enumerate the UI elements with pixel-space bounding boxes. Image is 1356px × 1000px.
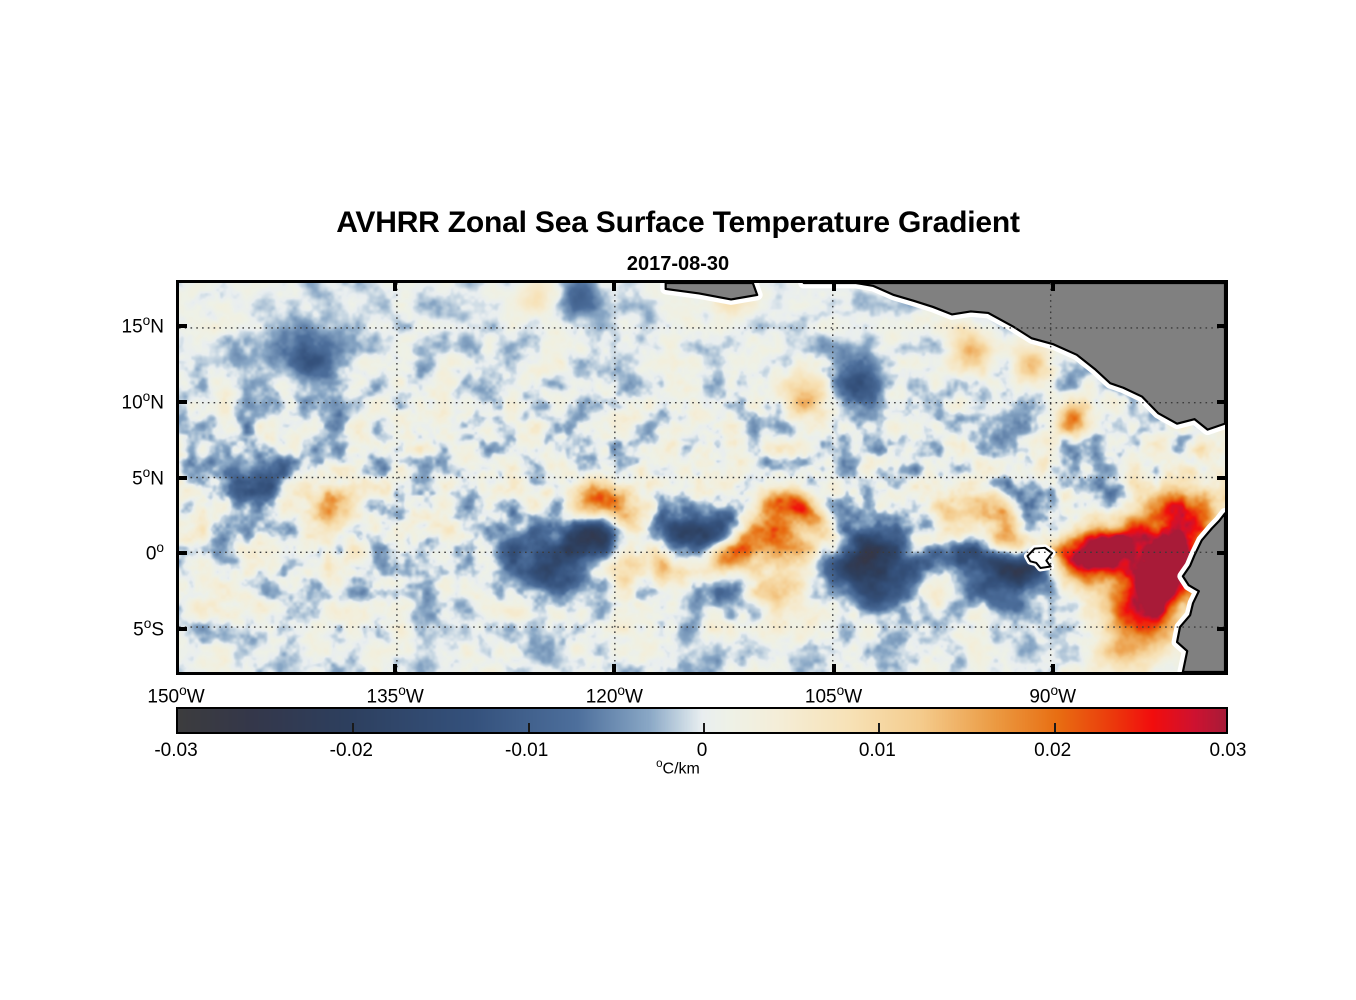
- colorbar-tick-mark: [703, 723, 705, 732]
- colorbar-tick-mark: [528, 723, 530, 732]
- y-axis-tick-label: 10oN: [36, 389, 164, 415]
- x-tick-mark: [612, 664, 616, 675]
- y-axis-tick-label: 15oN: [36, 313, 164, 339]
- x-tick-mark: [1051, 664, 1055, 675]
- colorbar-gradient: [178, 709, 1226, 732]
- colorbar-tick-mark: [352, 723, 354, 732]
- y-tick-mark: [1217, 476, 1228, 480]
- colorbar-tick-mark: [1054, 723, 1056, 732]
- x-axis-tick-label: 120oW: [544, 683, 684, 709]
- x-axis-tick-label: 90oW: [983, 683, 1123, 709]
- y-axis-tick-label: 5oS: [36, 616, 164, 642]
- figure-root: AVHRR Zonal Sea Surface Temperature Grad…: [0, 0, 1356, 1000]
- y-tick-mark: [1217, 400, 1228, 404]
- y-axis-tick-label: 5oN: [36, 465, 164, 491]
- x-tick-mark: [393, 664, 397, 675]
- y-tick-mark: [176, 324, 187, 328]
- x-axis-tick-label: 150oW: [106, 683, 246, 709]
- map-plot-area: [176, 280, 1228, 675]
- y-tick-mark: [1217, 551, 1228, 555]
- y-tick-mark: [1217, 627, 1228, 631]
- y-tick-mark: [176, 627, 187, 631]
- map-gridlines: [179, 283, 1225, 672]
- page-title: AVHRR Zonal Sea Surface Temperature Grad…: [0, 206, 1356, 240]
- colorbar: [176, 707, 1228, 734]
- y-tick-mark: [176, 551, 187, 555]
- x-tick-mark: [832, 664, 836, 675]
- colorbar-tick-mark: [878, 723, 880, 732]
- x-tick-mark: [832, 280, 836, 291]
- y-tick-mark: [176, 400, 187, 404]
- x-tick-mark: [393, 280, 397, 291]
- colorbar-units-label: oC/km: [0, 758, 1356, 778]
- y-tick-mark: [176, 476, 187, 480]
- x-axis-tick-label: 135oW: [325, 683, 465, 709]
- y-axis-tick-label: 0o: [36, 540, 164, 566]
- x-axis-tick-label: 105oW: [764, 683, 904, 709]
- figure-date-subtitle: 2017-08-30: [0, 253, 1356, 276]
- x-tick-mark: [1051, 280, 1055, 291]
- y-tick-mark: [1217, 324, 1228, 328]
- x-tick-mark: [612, 280, 616, 291]
